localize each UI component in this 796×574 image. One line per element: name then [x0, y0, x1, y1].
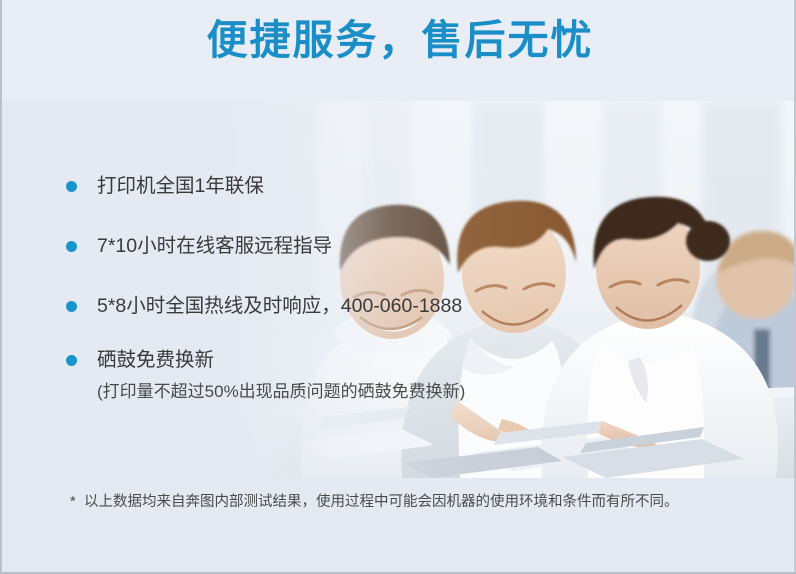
footnote-text: 以上数据均来自奔图内部测试结果，使用过程中可能会因机器的使用环境和条件而有所不同… — [84, 490, 760, 515]
service-promo-banner: 便捷服务，售后无忧 — [0, 0, 796, 574]
bullet-dot-icon — [66, 241, 77, 252]
office-team-photo — [2, 101, 796, 478]
list-item-label: 5*8小时全国热线及时响应，400-060-1888 — [97, 292, 462, 321]
list-item-label: 打印机全国1年联保 — [97, 172, 264, 201]
list-item: 5*8小时全国热线及时响应，400-060-1888 — [66, 292, 462, 321]
page-title: 便捷服务，售后无忧 — [2, 13, 796, 68]
footnote-marker: * — [70, 490, 76, 515]
bullet-dot-icon — [66, 301, 77, 312]
list-item-sublabel: (打印量不超过50%出现品质问题的硒鼓免费换新) — [97, 380, 465, 405]
bullet-dot-icon — [66, 355, 77, 366]
list-item: 7*10小时在线客服远程指导 — [66, 232, 332, 261]
bullet-dot-icon — [66, 181, 77, 192]
list-item: 打印机全国1年联保 — [66, 172, 264, 201]
photo-container — [2, 101, 796, 478]
footnote: * 以上数据均来自奔图内部测试结果，使用过程中可能会因机器的使用环境和条件而有所… — [70, 490, 760, 515]
list-item-label: 7*10小时在线客服远程指导 — [97, 232, 332, 261]
list-item: 硒鼓免费换新 (打印量不超过50%出现品质问题的硒鼓免费换新) — [66, 346, 465, 405]
list-item-label: 硒鼓免费换新 — [97, 346, 465, 375]
